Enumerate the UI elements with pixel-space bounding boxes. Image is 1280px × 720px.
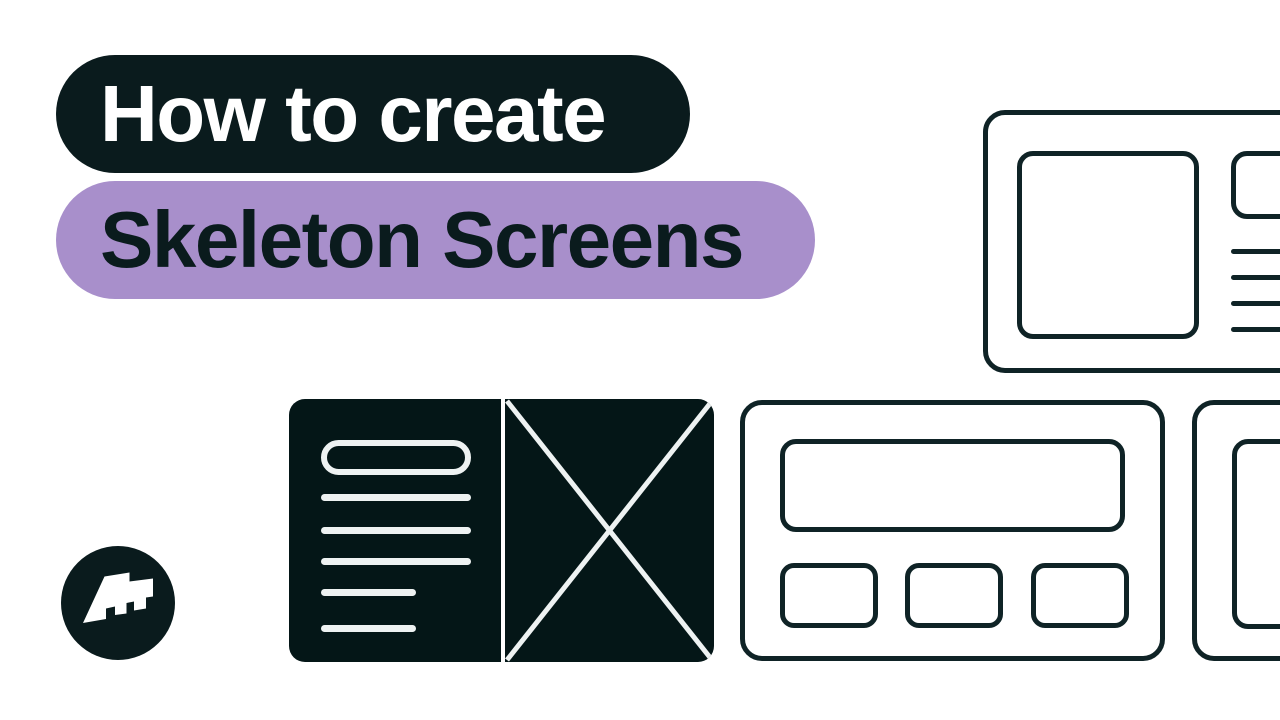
text-line-placeholder	[321, 494, 471, 501]
brand-logo	[61, 546, 175, 660]
skeleton-card-list-with-image-left-panel	[289, 399, 501, 662]
text-line-placeholder	[1231, 301, 1280, 306]
search-bar-placeholder	[321, 440, 471, 475]
skeleton-card-partial-offscreen	[1192, 400, 1280, 661]
skeleton-card-list-with-image-right-panel	[505, 399, 714, 662]
text-line-placeholder	[321, 558, 471, 565]
lightning-mark-logo-icon	[82, 572, 154, 634]
skeleton-card-hero-with-buttons	[740, 400, 1165, 661]
button-placeholder-2	[905, 563, 1003, 628]
text-line-placeholder	[1231, 249, 1280, 254]
text-line-placeholder	[1231, 327, 1280, 332]
inner-rounded-placeholder	[1232, 439, 1280, 629]
text-line-placeholder	[1231, 275, 1280, 280]
title-pill-line-1: How to create	[56, 55, 690, 173]
slide-canvas: How to create Skeleton Screens	[0, 0, 1280, 720]
title-pill-line-2: Skeleton Screens	[56, 181, 815, 299]
small-rounded-placeholder	[1231, 151, 1280, 219]
text-line-placeholder	[321, 527, 471, 534]
text-line-placeholder	[321, 625, 416, 632]
button-placeholder-1	[780, 563, 878, 628]
text-line-placeholder	[321, 589, 416, 596]
button-placeholder-3	[1031, 563, 1129, 628]
wide-hero-placeholder	[780, 439, 1125, 532]
skeleton-card-media-and-text	[983, 110, 1280, 373]
title-line-2-text: Skeleton Screens	[100, 200, 743, 280]
title-line-1-text: How to create	[100, 74, 605, 154]
large-square-placeholder	[1017, 151, 1199, 339]
